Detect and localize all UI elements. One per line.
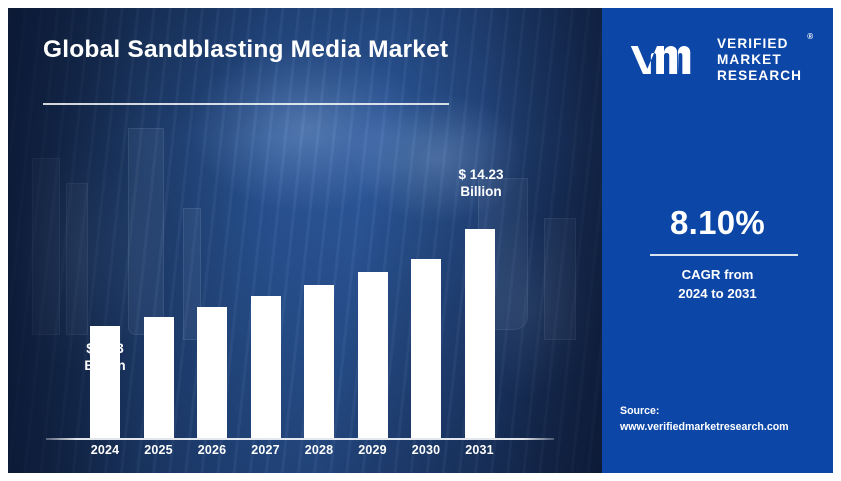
cagr-caption: CAGR from 2024 to 2031 [602,266,833,303]
bar-2027 [251,296,281,438]
bar-2030 [411,259,441,438]
cagr-divider [650,254,798,256]
chart-panel: Global Sandblasting Media Market 2024202… [8,8,602,473]
cagr-caption-line-2: 2024 to 2031 [602,285,833,304]
bar-2029 [358,272,388,438]
cagr-caption-line-1: CAGR from [602,266,833,285]
data-label-2031: $ 14.23 Billion [436,166,526,201]
registered-trademark-icon: ® [807,32,813,41]
x-tick-2027: 2027 [236,443,296,457]
market-infographic: Global Sandblasting Media Market 2024202… [8,8,833,473]
logo-line-research: RESEARCH [717,68,802,84]
bar-2031 [465,229,495,438]
bar-2026 [197,307,227,438]
x-tick-2030: 2030 [396,443,456,457]
x-tick-2031: 2031 [450,443,510,457]
verified-market-research-logo[interactable]: VERIFIED MARKET RESEARCH ® [620,36,802,83]
x-tick-2024: 2024 [75,443,135,457]
bar-plot-area: 20242025202620272028202920302031 [8,8,602,473]
cagr-value: 8.10% [602,204,833,242]
data-label-2024-value: $ 7.63 [60,340,150,357]
data-label-2024-unit: Billion [60,357,150,374]
logo-wordmark: VERIFIED MARKET RESEARCH ® [717,36,802,83]
x-axis-line [46,438,554,440]
logo-line-verified: VERIFIED [717,36,802,52]
x-tick-2025: 2025 [129,443,189,457]
data-label-2031-value: $ 14.23 [436,166,526,183]
x-tick-2028: 2028 [289,443,349,457]
vmr-monogram-icon [620,39,708,81]
x-tick-2026: 2026 [182,443,242,457]
bar-2028 [304,285,334,438]
source-label: Source: [620,404,789,419]
logo-line-market: MARKET [717,52,802,68]
x-tick-2029: 2029 [343,443,403,457]
data-label-2031-unit: Billion [436,183,526,200]
source-url[interactable]: www.verifiedmarketresearch.com [620,420,789,435]
bar-2025 [144,317,174,438]
source-attribution: Source: www.verifiedmarketresearch.com [620,404,789,435]
brand-panel: VERIFIED MARKET RESEARCH ® 8.10% CAGR fr… [602,8,833,473]
data-label-2024: $ 7.63 Billion [60,340,150,375]
